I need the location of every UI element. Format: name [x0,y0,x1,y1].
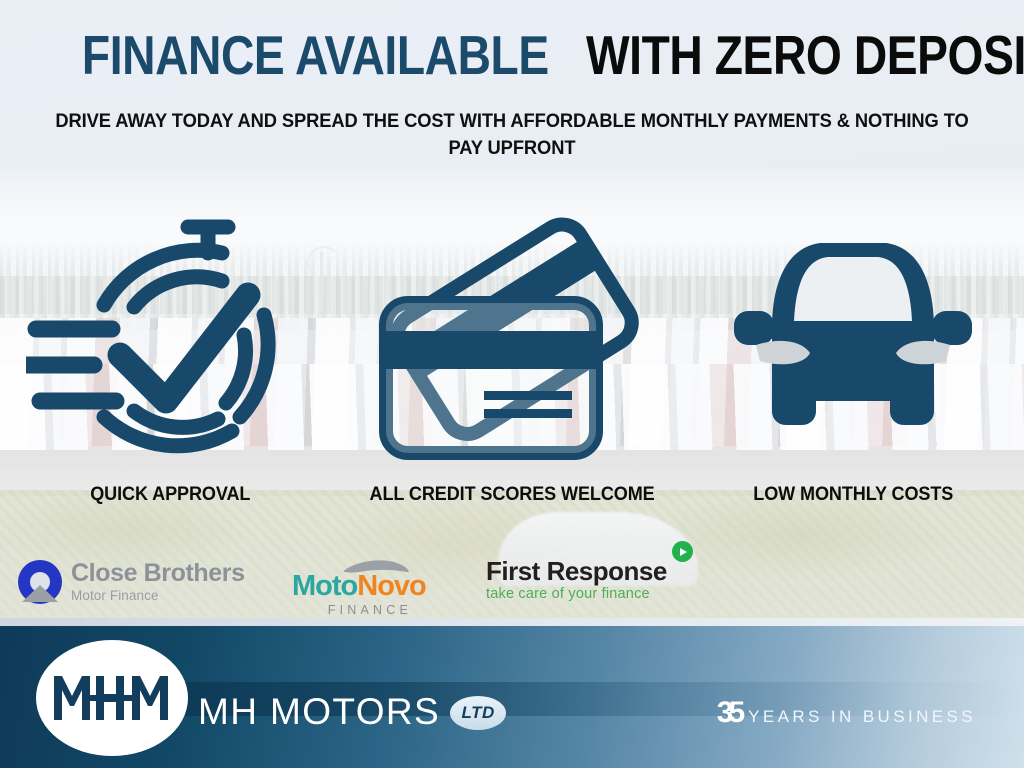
footer-top-edge [0,618,1024,626]
lender-close-brothers: Close Brothers Motor Finance [18,560,245,604]
lender-first-response: First Response take care of your finance [486,558,667,602]
feature-caption: QUICK APPROVAL [91,484,251,506]
lender-motonovo: MotoNovo FINANCE [292,559,426,617]
lender-name-part2: Novo [357,570,426,602]
feature-all-credit-scores: ALL CREDIT SCORES WELCOME [341,196,682,526]
headline-part-blue: FINANCE AVAILABLE [82,24,549,86]
years-in-business: 35 YEARS IN BUSINESS [717,698,976,728]
footer-brand-name: MH MOTORS [198,693,440,730]
ltd-label: LTD [461,703,494,723]
car-front-icon [728,225,978,455]
stopwatch-check-icon [26,205,316,475]
mhm-monogram-icon [54,676,170,720]
feature-art [372,196,652,484]
lender-logo-row: Close Brothers Motor Finance MotoNovo FI… [0,556,1024,618]
headline: FINANCE AVAILABLE WITH ZERO DEPOSIT [82,26,942,84]
lender-name: First Response [486,558,667,585]
feature-row: QUICK APPROVAL ALL CR [0,196,1024,526]
lender-subtitle: FINANCE [328,603,412,617]
play-circle-icon [672,541,693,562]
lender-subtitle: Motor Finance [71,589,245,603]
mhm-logo-badge [36,640,188,756]
years-label: YEARS IN BUSINESS [748,707,976,727]
finance-promo-banner: FINANCE AVAILABLE WITH ZERO DEPOSIT DRIV… [0,0,1024,768]
feature-caption: LOW MONTHLY COSTS [753,484,953,506]
headline-part-black: WITH ZERO DEPOSIT [586,24,1024,86]
feature-low-monthly-costs: LOW MONTHLY COSTS [683,196,1024,526]
credit-cards-icon [372,205,652,475]
ltd-badge: LTD [450,696,506,730]
footer-brand-lockup: MH MOTORS LTD [198,692,506,730]
lender-name-part1: Moto [292,570,357,602]
feature-quick-approval: QUICK APPROVAL [0,196,341,526]
lender-name: Close Brothers [71,561,245,586]
close-brothers-mountain-icon [18,560,62,604]
footer-bar: MH MOTORS LTD 35 YEARS IN BUSINESS [0,626,1024,768]
years-number: 35 [717,698,740,728]
lender-tagline: take care of your finance [486,586,650,602]
feature-art [26,196,316,484]
feature-art [728,196,978,484]
subheadline: DRIVE AWAY TODAY AND SPREAD THE COST WIT… [53,108,970,162]
feature-caption: ALL CREDIT SCORES WELCOME [369,484,654,506]
